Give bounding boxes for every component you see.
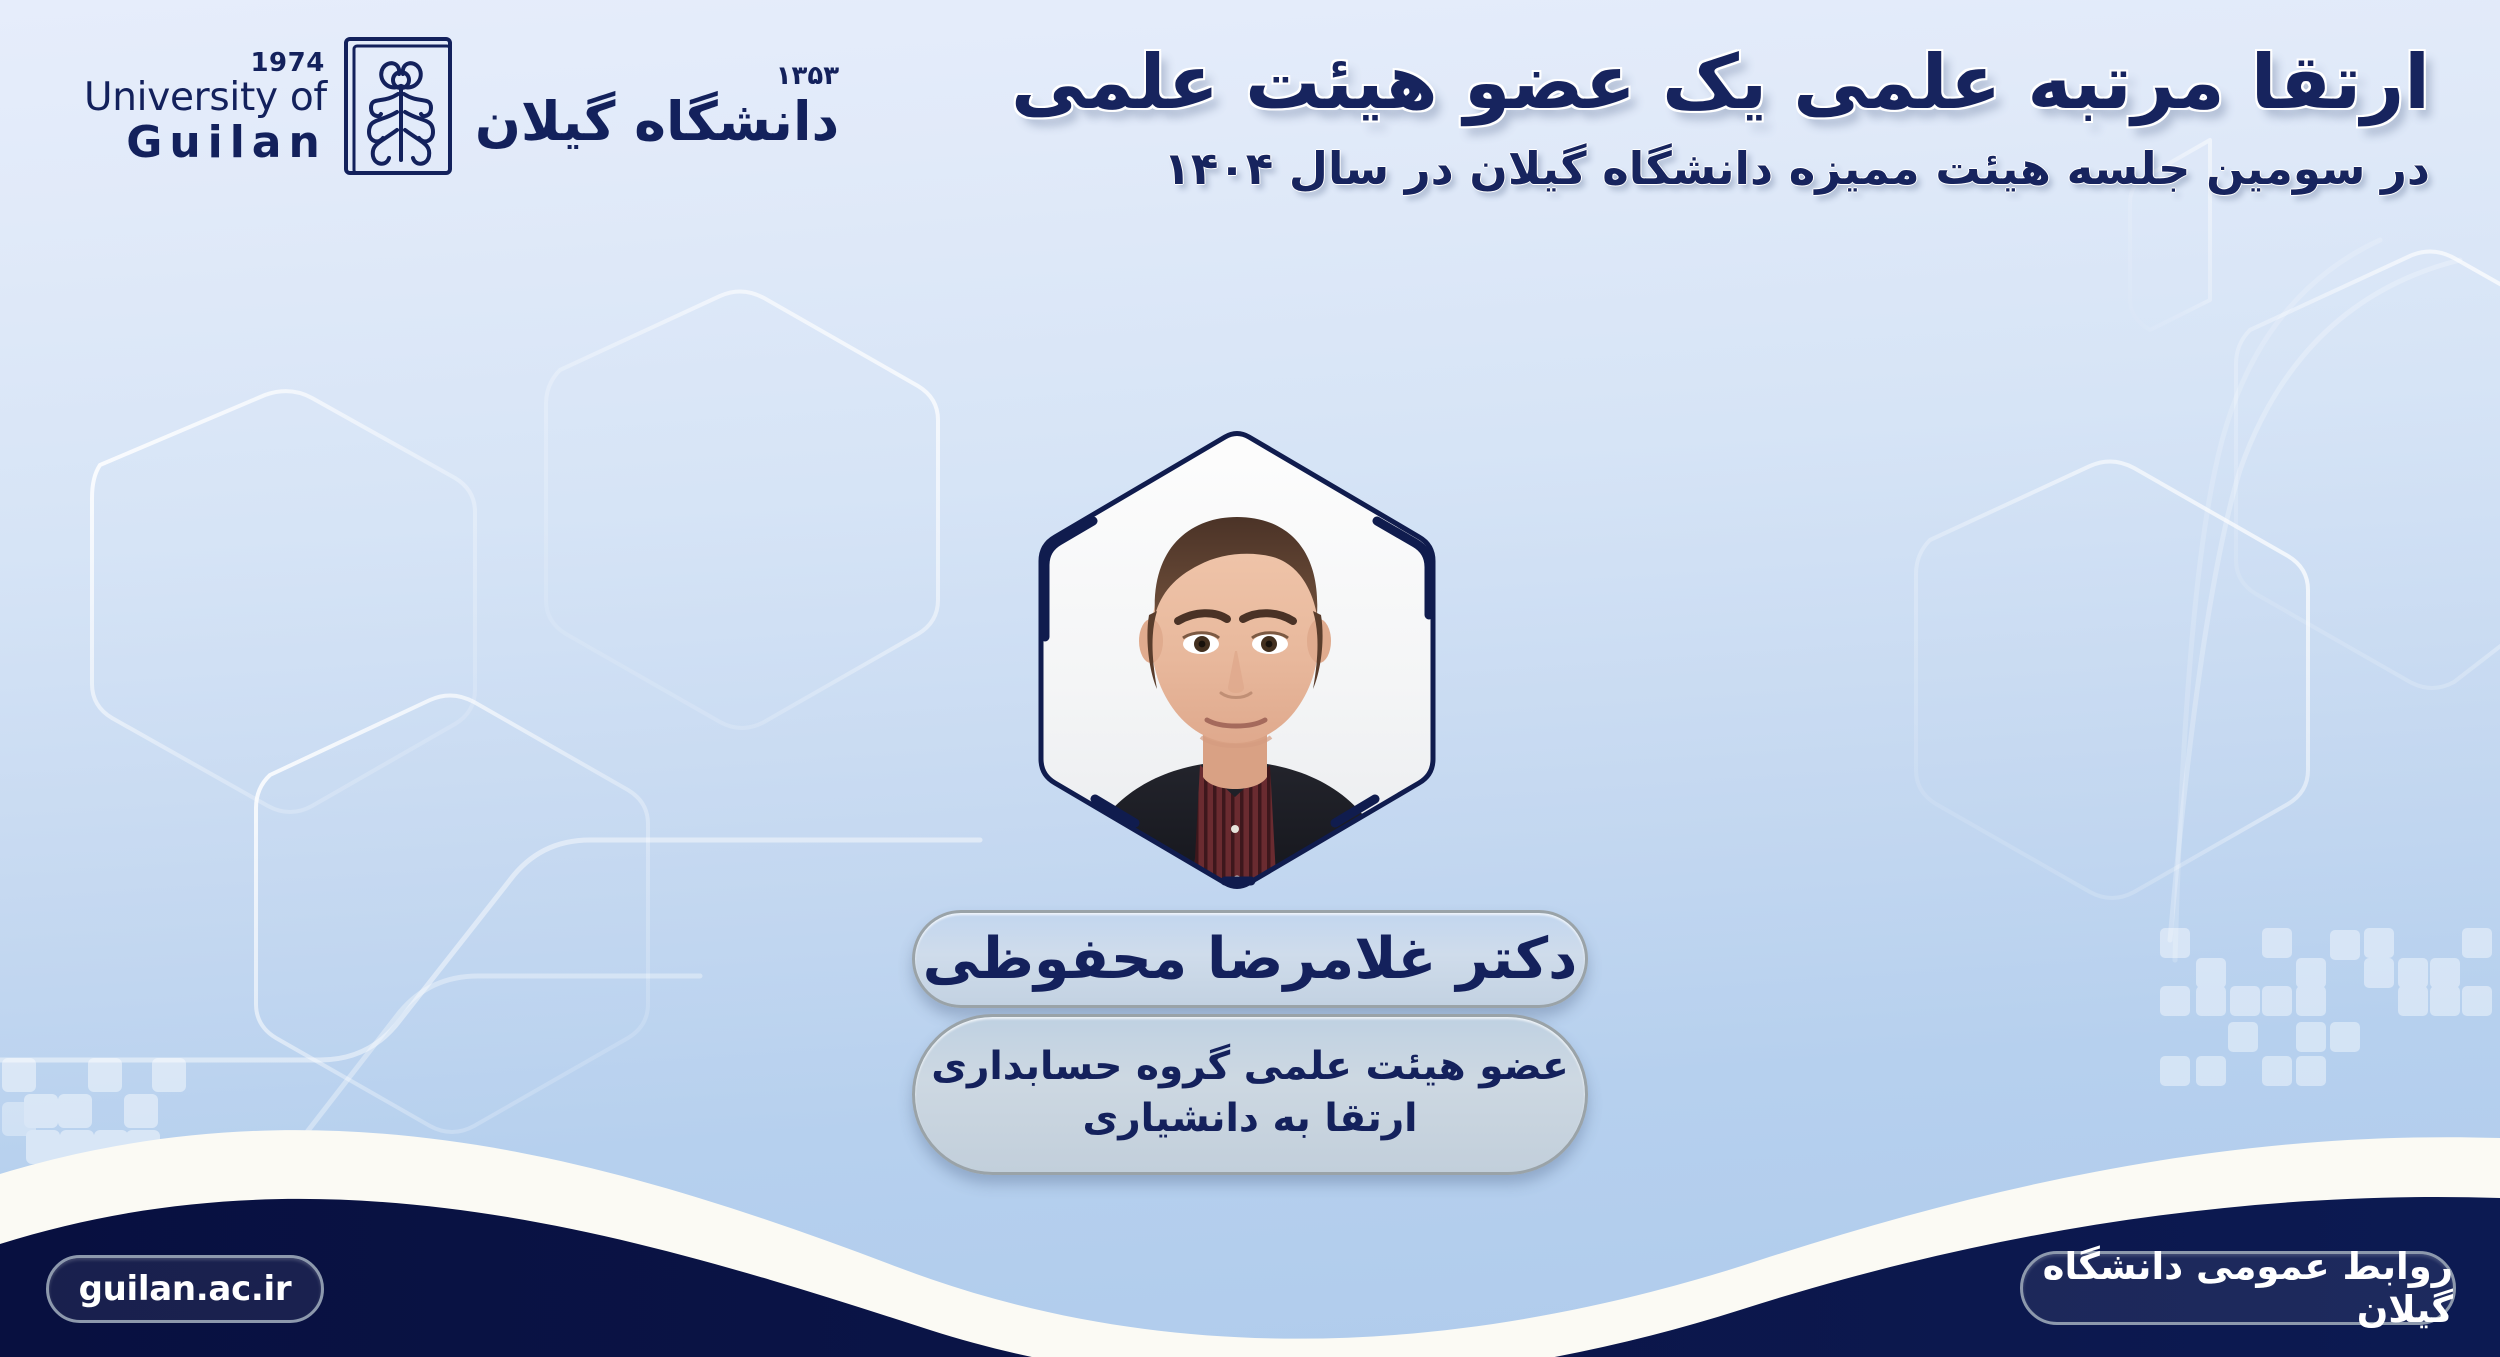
promotion-announcement-poster: 1974 University of Guilan: [0, 0, 2500, 1357]
university-logo: 1974 University of Guilan: [84, 34, 839, 184]
public-relations-badge: روابط عمومی دانشگاه گیلان: [2020, 1251, 2456, 1325]
person-role-badge: عضو هیئت علمی گروه حسابداری ارتقا به دان…: [912, 1014, 1588, 1175]
logo-persian-text: ۱۳۵۳ دانشگاه گیلان: [475, 63, 839, 155]
role-line-promotion: ارتقا به دانشیاری: [1082, 1093, 1417, 1144]
logo-english-text: 1974 University of Guilan: [84, 50, 327, 169]
portrait-photo: [1015, 425, 1455, 895]
hexagon-outline-group-right: [1916, 140, 2500, 898]
portrait-hexagon-frame: [1015, 425, 1455, 895]
logo-university-name-fa: دانشگاه گیلان: [475, 95, 839, 149]
headline-block: ارتقا مرتبه علمی یک عضو هیئت علمی در سوم…: [1110, 38, 2430, 197]
logo-guilan-word: Guilan: [126, 121, 327, 165]
logo-year-solar: ۱۳۵۳: [776, 63, 839, 89]
website-badge[interactable]: guilan.ac.ir: [46, 1255, 324, 1323]
logo-year-gregorian: 1974: [250, 50, 324, 76]
page-title: ارتقا مرتبه علمی یک عضو هیئت علمی: [1110, 38, 2430, 127]
page-subtitle: در سومین جلسه هیئت ممیزه دانشگاه گیلان د…: [1110, 141, 2430, 197]
guilan-emblem-icon: [341, 34, 461, 184]
person-name-badge: دکتر غلامرضا محفوظی: [912, 910, 1588, 1008]
role-line-department: عضو هیئت علمی گروه حسابداری: [931, 1041, 1569, 1092]
logo-university-word: University of: [84, 78, 327, 117]
person-info-block: دکتر غلامرضا محفوظی عضو هیئت علمی گروه ح…: [0, 910, 2500, 1175]
